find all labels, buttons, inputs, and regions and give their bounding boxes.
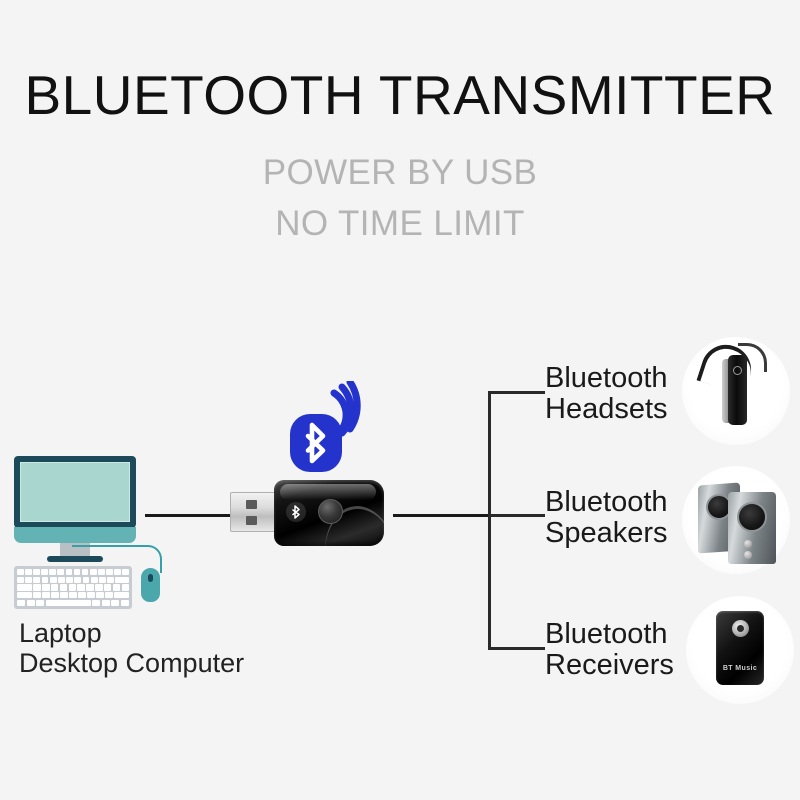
key (66, 577, 73, 583)
key (102, 600, 110, 606)
source-label-line-2: Desktop Computer (19, 648, 244, 678)
mouse-scroll-wheel (148, 574, 153, 582)
bluetooth-receiver-thumbnail: BT Music (686, 596, 794, 704)
key (27, 600, 35, 606)
key (51, 592, 59, 598)
keyboard-row (17, 569, 129, 575)
key (36, 600, 44, 606)
key (17, 600, 25, 606)
key (42, 592, 50, 598)
key (114, 592, 129, 598)
target-label-line-2: Headsets (545, 394, 668, 425)
key (25, 577, 32, 583)
bracket-branch-receivers (488, 647, 545, 650)
speaker-knob (744, 540, 752, 548)
usb-connector (230, 492, 278, 532)
key (42, 584, 49, 590)
key (95, 584, 102, 590)
key (51, 584, 58, 590)
key (42, 577, 49, 583)
keyboard-row (17, 592, 129, 598)
key (96, 592, 104, 598)
key (74, 569, 81, 575)
headset-multifunction-button (733, 366, 742, 375)
keyboard-row (17, 577, 129, 583)
key (25, 569, 32, 575)
key (115, 577, 129, 583)
key (33, 584, 40, 590)
key (92, 600, 100, 606)
key (83, 577, 90, 583)
key (17, 592, 32, 598)
keyboard-row (17, 584, 129, 590)
key (17, 569, 24, 575)
target-label-receivers: Bluetooth Receivers (545, 619, 674, 681)
key (33, 577, 40, 583)
spacebar-key (46, 600, 91, 606)
key (121, 600, 129, 606)
bracket-vertical-spine (488, 391, 491, 650)
keyboard-keys (17, 569, 129, 606)
target-label-line-1: Bluetooth (545, 619, 674, 650)
page-title: BLUETOOTH TRANSMITTER (0, 64, 800, 126)
source-label-line-1: Laptop (19, 618, 244, 648)
target-label-speakers: Bluetooth Speakers (545, 487, 668, 549)
key (107, 577, 114, 583)
key (87, 592, 95, 598)
key (111, 600, 119, 606)
keyboard-icon (14, 566, 132, 609)
key (114, 569, 121, 575)
key (104, 584, 111, 590)
dongle-pair-button[interactable] (318, 499, 343, 524)
key (17, 584, 32, 590)
target-label-line-2: Receivers (545, 650, 674, 681)
key (41, 569, 48, 575)
key (33, 569, 40, 575)
wire-computer-to-dongle (145, 514, 233, 517)
bluetooth-speakers-thumbnail (682, 466, 790, 574)
key (33, 592, 41, 598)
subtitle-line-1: POWER BY USB (0, 153, 800, 193)
key (60, 584, 67, 590)
key (50, 577, 57, 583)
key (99, 577, 106, 583)
usb-contact-slot (246, 500, 257, 509)
key (86, 584, 93, 590)
dongle-bluetooth-icon (286, 502, 306, 522)
dongle-gloss-highlight (280, 484, 376, 500)
bluetooth-headset-thumbnail (682, 337, 790, 445)
key (78, 592, 86, 598)
speaker-cone (737, 502, 767, 532)
key (113, 584, 120, 590)
key (49, 569, 56, 575)
key (58, 577, 65, 583)
key (122, 584, 129, 590)
receiver-power-symbol (737, 625, 744, 632)
target-label-line-1: Bluetooth (545, 363, 668, 394)
target-label-line-1: Bluetooth (545, 487, 668, 518)
usb-contact-slot (246, 516, 257, 525)
wire-dongle-to-bracket (393, 514, 490, 517)
key (106, 569, 113, 575)
subtitle-line-2: NO TIME LIMIT (0, 204, 800, 244)
target-label-headsets: Bluetooth Headsets (545, 363, 668, 425)
key (60, 592, 68, 598)
key (77, 584, 84, 590)
bluetooth-signal-waves-icon (330, 381, 382, 448)
key (82, 569, 89, 575)
bracket-branch-headsets (488, 391, 545, 394)
key (69, 584, 76, 590)
key (90, 569, 97, 575)
monitor-chin (14, 527, 136, 543)
bracket-branch-speakers (488, 514, 545, 517)
speaker-knob (744, 551, 752, 559)
key (69, 592, 77, 598)
key (122, 569, 129, 575)
key (57, 569, 64, 575)
monitor-screen (20, 462, 130, 522)
infographic-canvas: BLUETOOTH TRANSMITTER POWER BY USB NO TI… (0, 0, 800, 800)
key (105, 592, 113, 598)
key (98, 569, 105, 575)
target-label-line-2: Speakers (545, 518, 668, 549)
key (74, 577, 81, 583)
receiver-brand-text: BT Music (716, 665, 764, 672)
key (66, 569, 73, 575)
key (91, 577, 98, 583)
keyboard-row (17, 600, 129, 606)
source-label: Laptop Desktop Computer (19, 618, 244, 678)
key (17, 577, 24, 583)
